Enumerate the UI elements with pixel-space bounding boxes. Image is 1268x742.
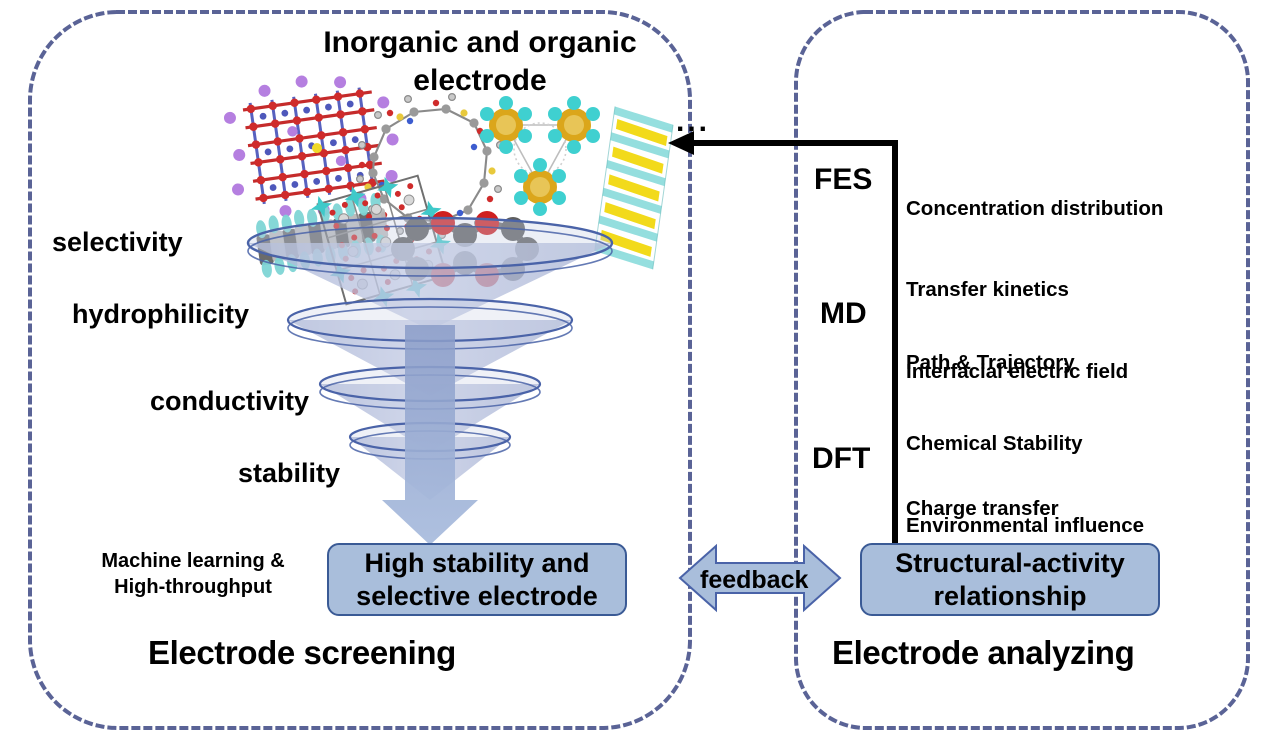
molecule-metal-cluster-network (480, 96, 600, 216)
page-title: Inorganic and organic electrode (300, 24, 660, 99)
method-label-fes: FES (814, 162, 872, 197)
ellipsis-label: ... (676, 104, 710, 139)
panel-title-right: Electrode analyzing (832, 634, 1134, 673)
analysis-box[interactable]: Structural-activity relationship (860, 543, 1160, 616)
method-label-md: MD (820, 296, 867, 331)
detail-item: Charge transfer (906, 495, 1121, 522)
analysis-box-label: Structural-activity relationship (895, 547, 1125, 612)
method-label-dft: DFT (812, 441, 870, 476)
detail-item: Concentration distribution (906, 195, 1163, 222)
machine-learning-annotation: Machine learning & High-throughput (78, 548, 308, 600)
funnel-label-stability: stability (238, 458, 340, 490)
detail-item: Path & Trajectory (906, 349, 1144, 376)
panel-title-left: Electrode screening (148, 634, 456, 673)
diagram-canvas: Inorganic and organic electrode ... sele… (0, 0, 1268, 742)
funnel-label-hydrophilicity: hydrophilicity (72, 299, 249, 331)
feedback-label: feedback (700, 566, 808, 596)
funnel-label-selectivity: selectivity (52, 227, 183, 259)
result-box[interactable]: High stability and selective electrode (327, 543, 627, 616)
result-box-label: High stability and selective electrode (356, 547, 598, 612)
funnel-label-conductivity: conductivity (150, 386, 309, 418)
